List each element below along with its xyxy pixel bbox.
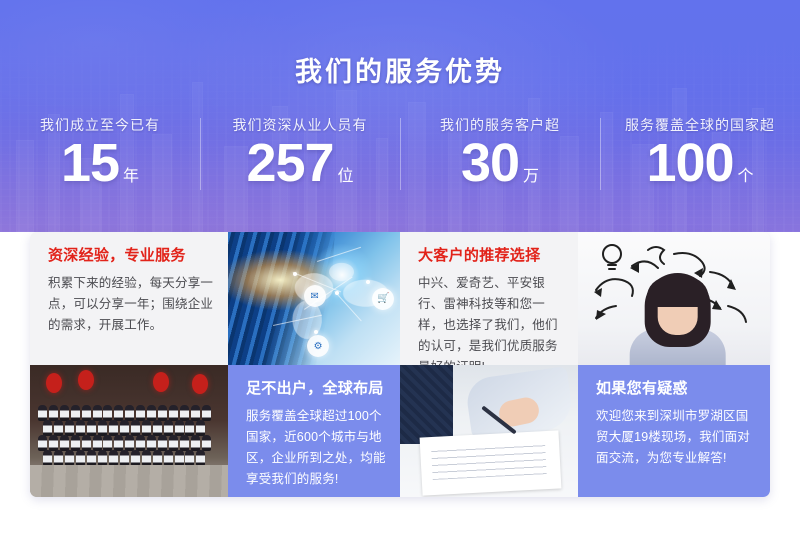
document-paper: [420, 430, 562, 495]
card-title: 足不出户，全球布局: [246, 379, 386, 399]
card-body: 积累下来的经验，每天分享一点，可以分享一年；围绕企业的需求，开展工作。: [48, 273, 214, 336]
lantern-icon: [46, 373, 62, 393]
stat-unit: 位: [338, 169, 354, 185]
card-title: 如果您有疑惑: [596, 379, 756, 399]
stat-number: 30: [461, 136, 519, 190]
lantern-icon: [153, 372, 169, 392]
woman-figure: [632, 273, 724, 365]
stat-item-countries: 服务覆盖全球的国家超 100 个: [600, 112, 800, 190]
skyscraper-world-network-photo: ✉ 🛒 ⚙: [228, 232, 400, 365]
stat-item-years: 我们成立至今已有 15 年: [0, 112, 200, 190]
card-body: 欢迎您来到深圳市罗湖区国贸大厦19楼现场，我们面对面交流，为您专业解答!: [596, 406, 756, 469]
stat-label: 我们资深从业人员有: [200, 116, 400, 134]
card-title: 资深经验，专业服务: [48, 246, 214, 266]
stat-unit: 年: [123, 169, 139, 185]
feature-card-experience: 资深经验，专业服务 积累下来的经验，每天分享一点，可以分享一年；围绕企业的需求，…: [30, 232, 228, 365]
network-node: [314, 330, 318, 334]
stat-unit: 个: [738, 169, 754, 185]
service-advantages-page: 我们的服务优势 我们成立至今已有 15 年 我们资深从业人员有 257 位 我们…: [0, 0, 800, 534]
photo-canvas: ✉ 🛒 ⚙: [228, 232, 400, 365]
stat-number: 257: [246, 136, 333, 190]
page-title: 我们的服务优势: [0, 50, 800, 89]
thinking-woman-ideas-photo: [578, 232, 770, 365]
stat-value: 257 位: [200, 136, 400, 190]
lantern-icon: [192, 374, 208, 394]
suit-shape: [400, 365, 453, 444]
ground-pavement: [30, 465, 228, 497]
mail-icon: ✉: [304, 285, 326, 307]
woman-hair-front: [647, 277, 709, 307]
business-meeting-documents-photo: [400, 365, 578, 497]
card-body: 中兴、爱奇艺、平安银行、雷神科技等和您一样，也选择了我们，他们的认可，是我们优质…: [418, 273, 564, 365]
stat-number: 100: [646, 136, 733, 190]
feature-card-visit-us: 如果您有疑惑 欢迎您来到深圳市罗湖区国贸大厦19楼现场，我们面对面交流，为您专业…: [578, 365, 770, 497]
hero-banner: 我们的服务优势 我们成立至今已有 15 年 我们资深从业人员有 257 位 我们…: [0, 0, 800, 232]
network-node: [366, 280, 370, 284]
stat-unit: 万: [523, 169, 539, 185]
lantern-icon: [78, 370, 94, 390]
photo-canvas: [30, 365, 228, 497]
photo-canvas: [578, 232, 770, 365]
card-title: 大客户的推荐选择: [418, 246, 564, 266]
network-node: [335, 291, 339, 295]
stat-item-staff: 我们资深从业人员有 257 位: [200, 112, 400, 190]
stat-item-clients: 我们的服务客户超 30 万: [400, 112, 600, 190]
employee-rows: [38, 405, 220, 463]
stat-value: 15 年: [0, 136, 200, 190]
stat-number: 15: [61, 136, 119, 190]
feature-card-key-clients: 大客户的推荐选择 中兴、爱奇艺、平安银行、雷神科技等和您一样，也选择了我们，他们…: [400, 232, 578, 365]
stat-label: 我们成立至今已有: [0, 116, 200, 134]
network-node: [293, 272, 297, 276]
stat-label: 服务覆盖全球的国家超: [600, 116, 800, 134]
card-body: 服务覆盖全球超过100个国家，近600个城市与地区，企业所到之处，均能享受我们的…: [246, 406, 386, 490]
stats-row: 我们成立至今已有 15 年 我们资深从业人员有 257 位 我们的服务客户超 3…: [0, 112, 800, 208]
stat-value: 30 万: [400, 136, 600, 190]
photo-canvas: [400, 365, 578, 497]
company-group-photo: [30, 365, 228, 497]
feature-card-global-reach: 足不出户，全球布局 服务覆盖全球超过100个国家，近600个城市与地区，企业所到…: [228, 365, 400, 497]
feature-grid: 资深经验，专业服务 积累下来的经验，每天分享一点，可以分享一年；围绕企业的需求，…: [30, 232, 770, 497]
network-badge-icon: ⚙: [307, 335, 329, 357]
stat-value: 100 个: [600, 136, 800, 190]
stat-label: 我们的服务客户超: [400, 116, 600, 134]
